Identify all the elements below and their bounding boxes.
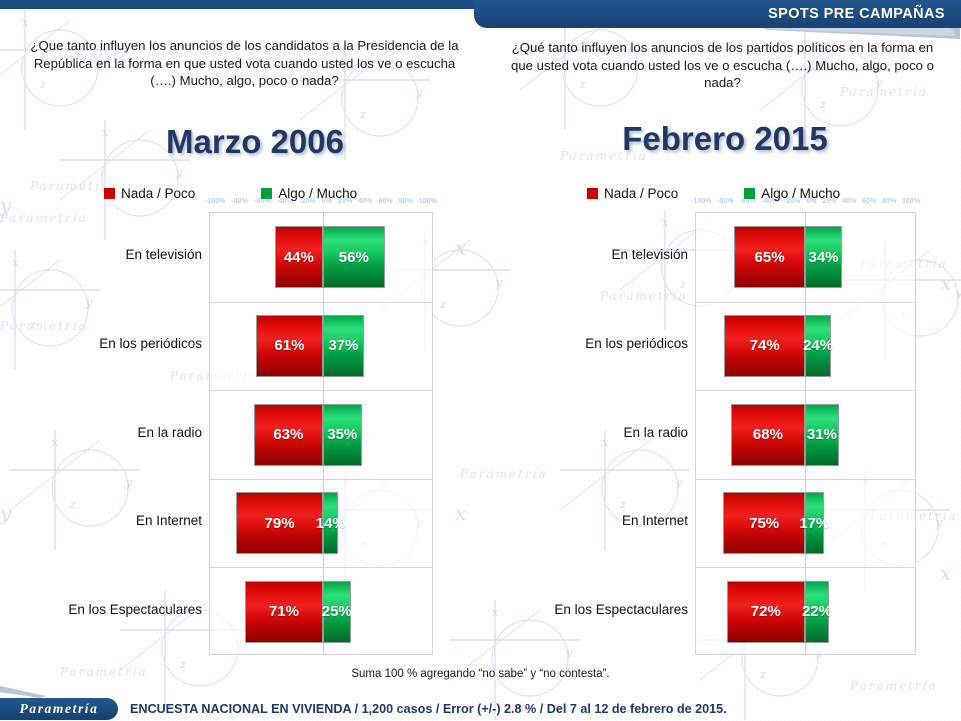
bar-nada-poco[interactable]: 65% [734,226,805,288]
chart-bar-row: 65%34% [696,226,915,288]
category-label: En la radio [490,425,688,440]
chart-bar-row: 68%31% [696,404,915,466]
chart-bar-row: 71%25% [210,581,432,643]
legend-swatch-green-icon [261,188,272,199]
bar-nada-poco[interactable]: 72% [727,581,805,643]
legend-label-algo-mucho: Algo / Mucho [761,186,840,201]
svg-text:Parametría: Parametría [0,211,88,225]
svg-text:Parametría: Parametría [0,319,88,333]
bar-value-label: 65% [755,249,785,266]
bar-nada-poco[interactable]: 61% [256,315,323,377]
bar-algo-mucho[interactable]: 25% [323,581,351,643]
chart-bar-row: 61%37% [210,315,432,377]
svg-text:x: x [455,501,466,525]
footer-bar: Parametría ENCUESTA NACIONAL EN VIVIENDA… [0,696,961,721]
chart-bar-row: 75%17% [696,492,915,554]
category-label: En televisión [10,247,202,262]
footer-survey-info: ENCUESTA NACIONAL EN VIVIENDA / 1,200 ca… [130,702,727,716]
bar-value-label: 74% [750,337,780,354]
category-label: En los periódicos [10,336,202,351]
axis-tick-label: 100% [902,198,920,205]
banner-title: SPOTS PRE CAMPAÑAS [768,6,945,22]
legend-left: Nada / Poco Algo / Mucho [104,186,404,201]
category-label: En los periódicos [490,336,688,351]
bar-value-label: 14% [316,515,346,532]
legend-item-algo-mucho-right: Algo / Mucho [744,186,840,201]
bar-algo-mucho[interactable]: 22% [805,581,829,643]
footnote-text: Suma 100 % agregando “no sabe” y “no con… [0,668,961,680]
bar-nada-poco[interactable]: 63% [254,404,323,466]
bar-algo-mucho[interactable]: 17% [805,492,824,554]
chart-row-separator [696,302,915,303]
svg-text:x: x [940,271,951,295]
axis-tick-label: 100% [419,198,437,205]
panel-title-right: Febrero 2015 [580,120,870,158]
chart-plot-area-left: 44%56%61%37%63%35%79%14%71%25% [209,212,433,655]
bar-value-label: 68% [753,426,783,443]
svg-text:y: y [0,193,12,217]
bar-value-label: 44% [284,249,314,266]
chart-row-separator [696,567,915,568]
chart-bar-row: 63%35% [210,404,432,466]
legend-label-nada-poco: Nada / Poco [121,186,195,201]
bar-value-label: 25% [322,603,352,620]
bar-value-label: 56% [339,249,369,266]
bar-algo-mucho[interactable]: 34% [805,226,842,288]
panel-title-left: Marzo 2006 [110,123,400,161]
chart-row-separator [696,479,915,480]
category-label: En televisión [490,247,688,262]
bar-algo-mucho[interactable]: 31% [805,404,839,466]
bar-value-label: 63% [273,426,303,443]
bar-algo-mucho[interactable]: 14% [323,492,338,554]
chart-row-separator [210,302,432,303]
bar-value-label: 24% [803,337,833,354]
bar-algo-mucho[interactable]: 24% [805,315,831,377]
legend-swatch-green-icon [744,188,755,199]
legend-label-nada-poco: Nada / Poco [604,186,678,201]
bar-value-label: 37% [328,337,358,354]
bar-value-label: 31% [807,426,837,443]
category-label: En Internet [490,513,688,528]
chart-bar-row: 74%24% [696,315,915,377]
bar-value-label: 22% [802,603,832,620]
chart-bar-row: 44%56% [210,226,432,288]
bar-nada-poco[interactable]: 79% [236,492,323,554]
chart-plot-area-right: 65%34%74%24%68%31%75%17%72%22% [695,212,916,655]
legend-label-algo-mucho: Algo / Mucho [278,186,357,201]
legend-swatch-red-icon [104,188,115,199]
chart-row-separator [210,390,432,391]
svg-text:Parametría: Parametría [849,679,938,693]
legend-item-nada-poco-right: Nada / Poco [587,186,678,201]
chart-row-separator [210,567,432,568]
chart-row-separator [210,479,432,480]
bar-value-label: 17% [799,515,829,532]
question-text-left: ¿Que tanto influyen los anuncios de los … [22,37,467,90]
bar-nada-poco[interactable]: 44% [275,226,323,288]
legend-item-algo-mucho-left: Algo / Mucho [261,186,357,201]
category-label: En los Espectaculares [10,602,202,617]
bar-value-label: 75% [749,515,779,532]
svg-text:Parametría: Parametría [599,289,688,303]
bar-nada-poco[interactable]: 74% [724,315,805,377]
parametria-logo: Parametría [0,698,118,720]
svg-text:x: x [455,236,466,260]
chart-row-separator [696,390,915,391]
bar-value-label: 34% [809,249,839,266]
chart-bar-row: 72%22% [696,581,915,643]
bar-algo-mucho[interactable]: 35% [323,404,362,466]
category-label: En los Espectaculares [490,602,688,617]
svg-text:Parametría: Parametría [459,467,548,481]
bar-nada-poco[interactable]: 68% [731,404,805,466]
bar-value-label: 71% [269,603,299,620]
bar-nada-poco[interactable]: 71% [245,581,323,643]
bar-value-label: 72% [751,603,781,620]
chart-bar-row: 79%14% [210,492,432,554]
bar-value-label: 79% [265,515,295,532]
legend-item-nada-poco-left: Nada / Poco [104,186,195,201]
bar-algo-mucho[interactable]: 37% [323,315,364,377]
bar-value-label: 35% [327,426,357,443]
category-label: En la radio [10,425,202,440]
svg-text:x: x [940,561,951,585]
bar-nada-poco[interactable]: 75% [723,492,805,554]
legend-right: Nada / Poco Algo / Mucho [587,186,887,201]
bar-algo-mucho[interactable]: 56% [323,226,385,288]
footer-fold-decoration [0,686,46,698]
bar-value-label: 61% [274,337,304,354]
legend-swatch-red-icon [587,188,598,199]
question-text-right: ¿Qué tanto influyen los anuncios de los … [500,39,945,92]
header-banner: SPOTS PRE CAMPAÑAS [474,0,961,28]
category-label: En Internet [10,513,202,528]
